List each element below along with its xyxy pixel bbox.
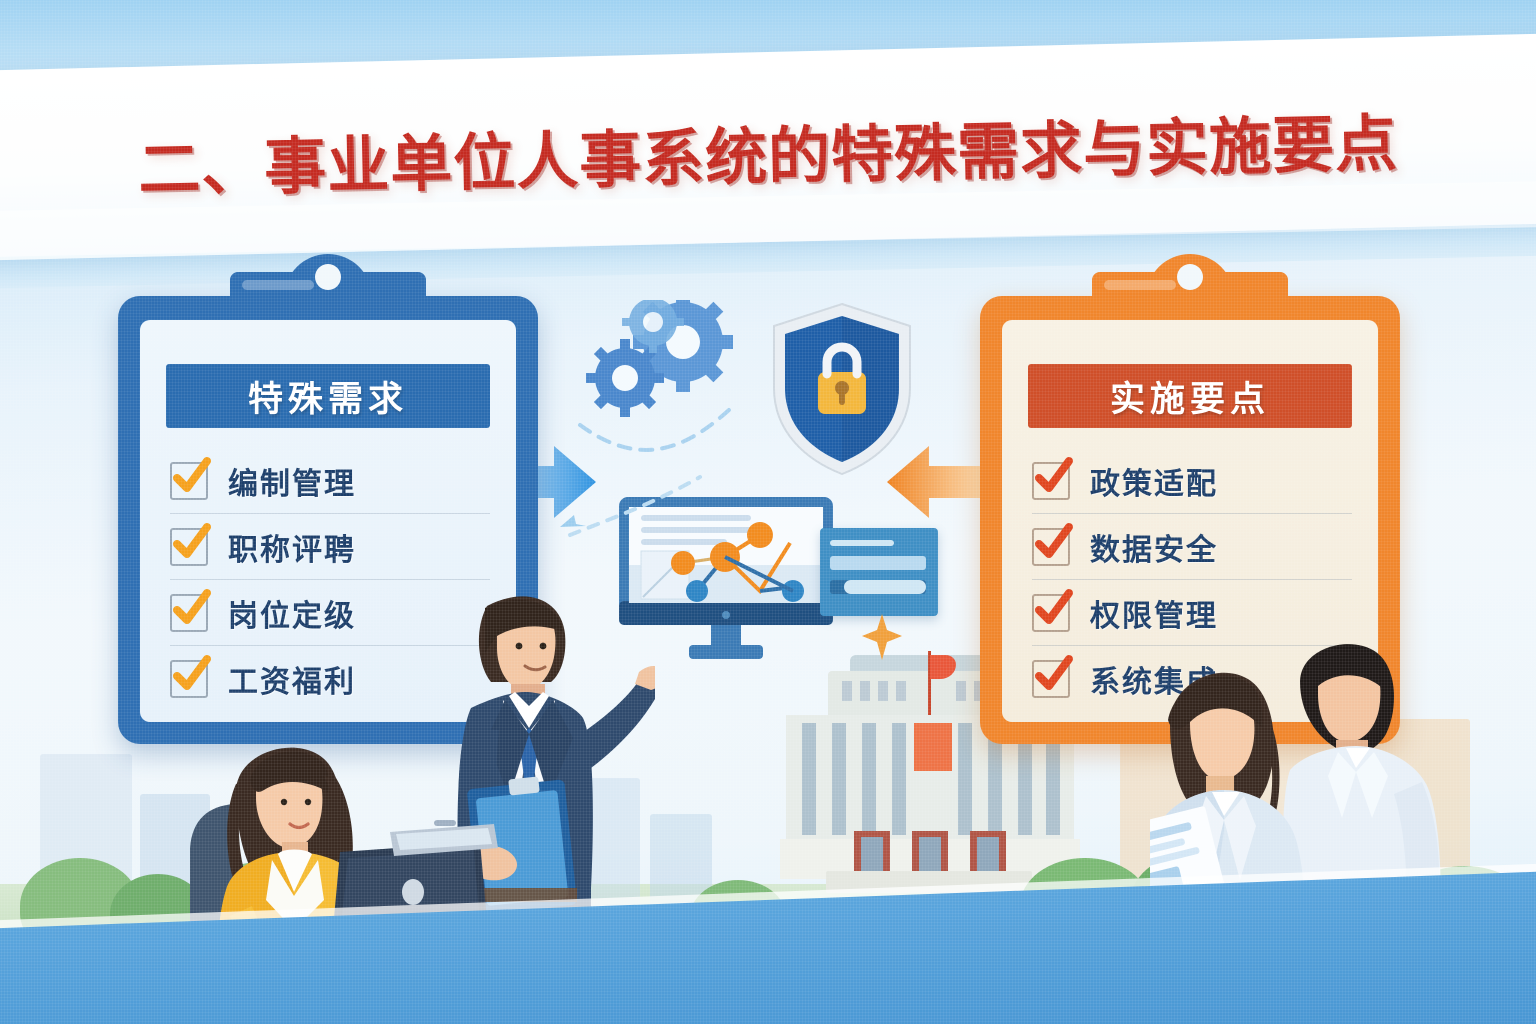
gears-icon: [575, 300, 785, 440]
checkbox-checked-icon[interactable]: [170, 462, 208, 500]
checkbox-checked-icon[interactable]: [170, 528, 208, 566]
sparkle-icon: [862, 612, 902, 664]
list-item[interactable]: 职称评聘: [170, 514, 490, 580]
shield-lock-icon: [768, 300, 916, 478]
checkbox-checked-icon[interactable]: [1032, 594, 1070, 632]
flag-pole: [928, 651, 931, 715]
clip-hole: [1177, 264, 1203, 290]
background-building: [650, 814, 712, 954]
tablet-on-desk: [382, 818, 502, 868]
red-flag-icon: [930, 655, 956, 679]
tree: [1020, 858, 1150, 954]
background-building: [40, 754, 132, 954]
pair-of-colleagues: [1150, 640, 1480, 1024]
checkbox-checked-icon[interactable]: [1032, 462, 1070, 500]
poster-canvas: 二、事业单位人事系统的特殊需求与实施要点: [0, 0, 1536, 1024]
checkbox-checked-icon[interactable]: [1032, 660, 1070, 698]
list-item-label: 数据安全: [1090, 525, 1218, 569]
page-title: 二、事业单位人事系统的特殊需求与实施要点: [0, 90, 1536, 212]
right-board-banner: 实施要点: [1028, 364, 1352, 428]
list-item-label: 编制管理: [228, 459, 356, 503]
list-item[interactable]: 政策适配: [1032, 448, 1352, 514]
tree: [20, 858, 140, 954]
list-item-label: 岗位定级: [228, 591, 356, 635]
building-red-banner: [914, 723, 952, 771]
data-panel-icon: [820, 528, 938, 616]
list-item-label: 权限管理: [1090, 591, 1218, 635]
left-board-banner: 特殊需求: [166, 364, 490, 428]
list-item-label: 工资福利: [228, 657, 356, 701]
tree: [690, 880, 786, 954]
list-item[interactable]: 数据安全: [1032, 514, 1352, 580]
list-item[interactable]: 编制管理: [170, 448, 490, 514]
list-item[interactable]: 权限管理: [1032, 580, 1352, 646]
checkbox-checked-icon[interactable]: [170, 660, 208, 698]
checkbox-checked-icon[interactable]: [1032, 528, 1070, 566]
list-item-label: 职称评聘: [228, 525, 356, 569]
clip-hole: [315, 264, 341, 290]
checkbox-checked-icon[interactable]: [170, 594, 208, 632]
list-item-label: 政策适配: [1090, 459, 1218, 503]
